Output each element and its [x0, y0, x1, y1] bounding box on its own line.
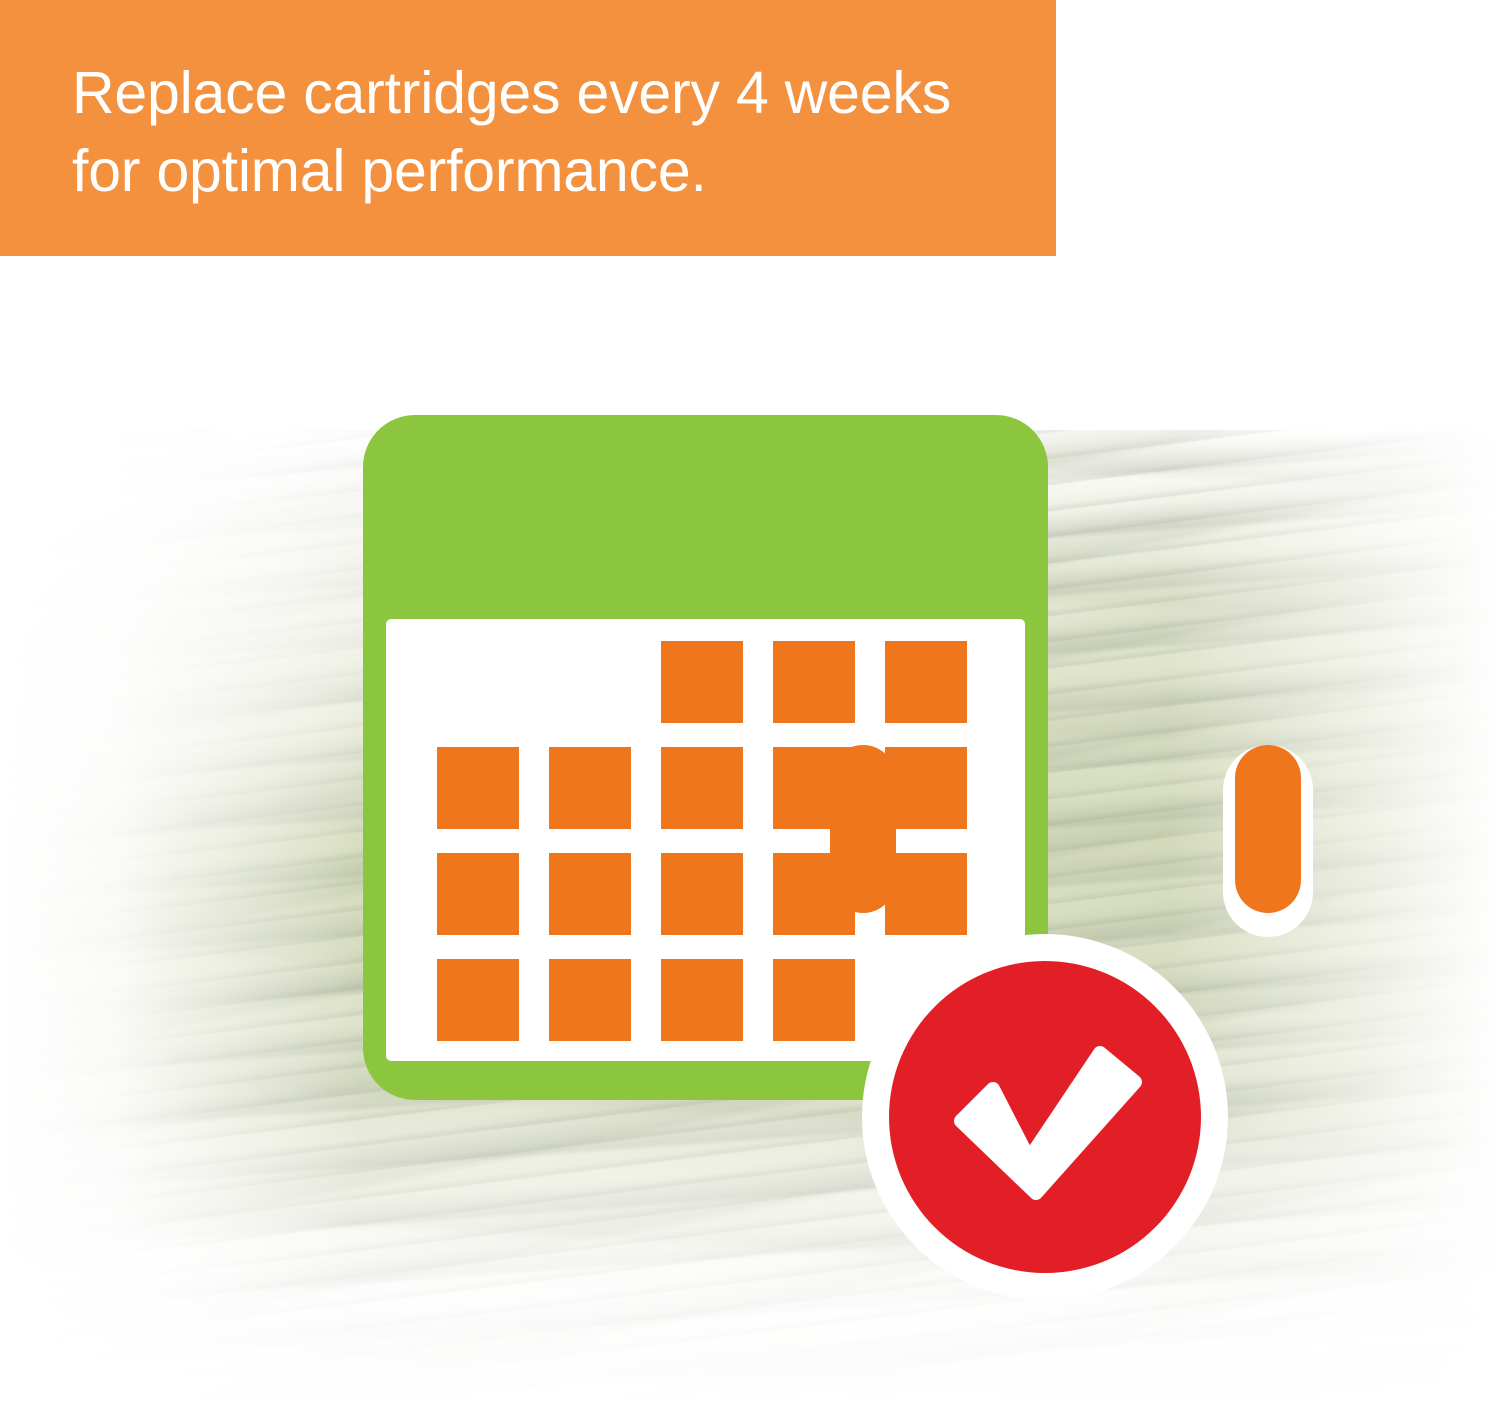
calendar-day-cell: [773, 641, 855, 723]
headline-banner: Replace cartridges every 4 weeks for opt…: [0, 0, 1056, 256]
calendar-day-cell: [661, 747, 743, 829]
calendar-day-cell: [885, 747, 967, 829]
calendar-day-cell: [885, 853, 967, 935]
calendar-day-cell: [437, 959, 519, 1041]
calendar-day-cell: [661, 641, 743, 723]
calendar-day-cell: [549, 959, 631, 1041]
calendar-day-cell: [773, 853, 855, 935]
texture-fade-bottom: [0, 1109, 1500, 1409]
ring-tab-pin-right: [1235, 745, 1301, 913]
calendar-day-cell: [773, 959, 855, 1041]
calendar-day-cell: [661, 959, 743, 1041]
calendar-day-cell: [437, 747, 519, 829]
check-circle-icon: [862, 934, 1228, 1300]
headline-text: Replace cartridges every 4 weeks for opt…: [72, 54, 1032, 211]
calendar-day-cell: [549, 747, 631, 829]
calendar-day-cell: [549, 853, 631, 935]
calendar-day-cell: [661, 853, 743, 935]
calendar-day-cell: [437, 853, 519, 935]
product-infographic: Replace cartridges every 4 weeks for opt…: [0, 0, 1500, 1409]
checkmark-glyph: [889, 961, 1201, 1273]
calendar-day-cell: [773, 747, 855, 829]
calendar-day-cell: [885, 641, 967, 723]
calendar-ring-tab-right: [1223, 745, 1313, 937]
